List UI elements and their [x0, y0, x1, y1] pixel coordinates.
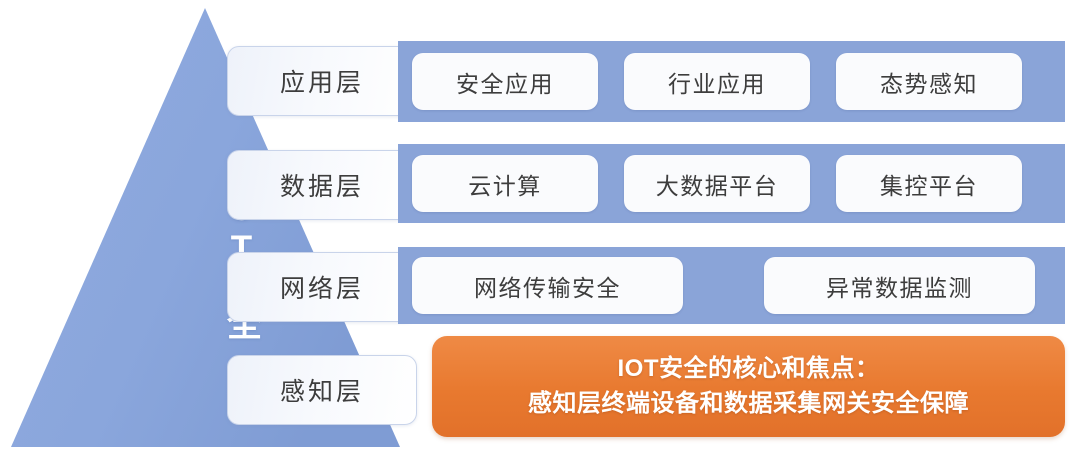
layer-card-text: 大数据平台 — [656, 167, 779, 201]
banner-line-1: IOT安全的核心和焦点： — [618, 352, 880, 386]
layer-row-network: 网络传输安全 异常数据监测 — [398, 247, 1065, 324]
layer-label-perception: 感知层 — [227, 355, 417, 425]
layer-card-text: 态势感知 — [880, 65, 978, 99]
layer-card: 态势感知 — [836, 53, 1022, 110]
iot-security-pyramid-diagram: IOT安全 应用层 数据层 网络层 感知层 安全应用 行业应用 态势感知 云计算… — [0, 0, 1080, 461]
pyramid-title: IOT安全 — [148, 100, 263, 390]
layer-card: 网络传输安全 — [412, 257, 683, 314]
banner-line-2: 感知层终端设备和数据采集网关安全保障 — [528, 387, 969, 421]
layer-label-text: 数据层 — [280, 167, 364, 203]
layer-row-application: 安全应用 行业应用 态势感知 — [398, 41, 1065, 122]
layer-label-text: 感知层 — [280, 372, 364, 408]
layer-row-data: 云计算 大数据平台 集控平台 — [398, 144, 1065, 223]
layer-card: 行业应用 — [624, 53, 810, 110]
layer-card: 异常数据监测 — [764, 257, 1035, 314]
layer-card: 大数据平台 — [624, 155, 810, 212]
layer-label-application: 应用层 — [227, 46, 417, 116]
layer-label-data: 数据层 — [227, 150, 417, 220]
layer-label-network: 网络层 — [227, 252, 417, 322]
layer-card: 安全应用 — [412, 53, 598, 110]
layer-label-text: 网络层 — [280, 269, 364, 305]
layer-label-text: 应用层 — [280, 63, 364, 99]
layer-card-text: 云计算 — [468, 167, 542, 201]
layer-card-text: 网络传输安全 — [474, 269, 621, 303]
layer-card-text: 集控平台 — [880, 167, 978, 201]
layer-card-text: 异常数据监测 — [826, 269, 973, 303]
layer-card-text: 行业应用 — [668, 65, 766, 99]
layer-card: 集控平台 — [836, 155, 1022, 212]
perception-layer-highlight-banner: IOT安全的核心和焦点： 感知层终端设备和数据采集网关安全保障 — [432, 336, 1065, 437]
layer-card: 云计算 — [412, 155, 598, 212]
layer-card-text: 安全应用 — [456, 65, 554, 99]
